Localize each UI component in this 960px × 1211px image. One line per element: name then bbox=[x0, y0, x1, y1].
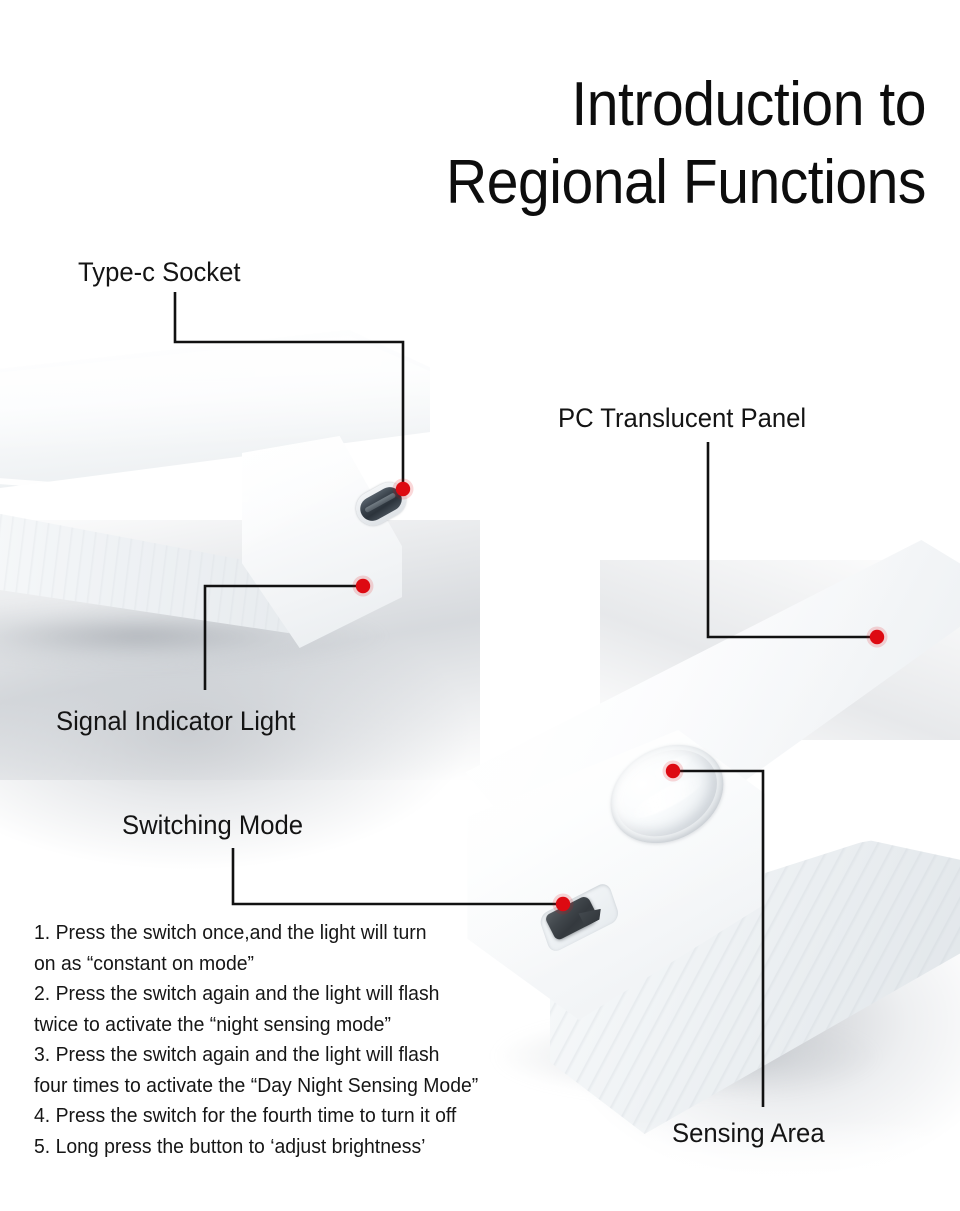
callout-dot-type-c-socket[interactable] bbox=[396, 482, 410, 496]
instruction-line: 5. Long press the button to ‘adjust brig… bbox=[34, 1132, 519, 1163]
instruction-line: four times to activate the “Day Night Se… bbox=[34, 1071, 519, 1102]
instruction-line: 4. Press the switch for the fourth time … bbox=[34, 1101, 519, 1132]
leader-line-type-c-socket bbox=[175, 292, 403, 489]
callout-dot-pc-translucent-panel[interactable] bbox=[870, 630, 884, 644]
infographic-canvas: Introduction to Regional Functions Type-… bbox=[0, 0, 960, 1211]
instruction-line: on as “constant on mode” bbox=[34, 949, 519, 980]
leader-line-pc-translucent-panel bbox=[708, 442, 877, 637]
callout-label-sensing-area: Sensing Area bbox=[672, 1117, 825, 1149]
instruction-line: 3. Press the switch again and the light … bbox=[34, 1040, 519, 1071]
callout-dot-signal-indicator-light[interactable] bbox=[356, 579, 370, 593]
callout-label-pc-translucent-panel: PC Translucent Panel bbox=[558, 402, 806, 434]
operating-instructions: 1. Press the switch once,and the light w… bbox=[34, 918, 519, 1162]
page-title: Introduction to Regional Functions bbox=[264, 66, 926, 222]
instruction-line: twice to activate the “night sensing mod… bbox=[34, 1010, 519, 1041]
leader-line-switching-mode bbox=[233, 848, 563, 904]
callout-label-switching-mode: Switching Mode bbox=[122, 809, 303, 841]
leader-line-sensing-area bbox=[673, 771, 763, 1107]
callout-label-type-c-socket: Type-c Socket bbox=[78, 256, 241, 288]
instruction-line: 1. Press the switch once,and the light w… bbox=[34, 918, 519, 949]
leader-line-signal-indicator-light bbox=[205, 586, 363, 690]
callout-label-signal-indicator-light: Signal Indicator Light bbox=[56, 705, 296, 737]
callout-dot-switching-mode[interactable] bbox=[556, 897, 570, 911]
callout-dot-sensing-area[interactable] bbox=[666, 764, 680, 778]
instruction-line: 2. Press the switch again and the light … bbox=[34, 979, 519, 1010]
